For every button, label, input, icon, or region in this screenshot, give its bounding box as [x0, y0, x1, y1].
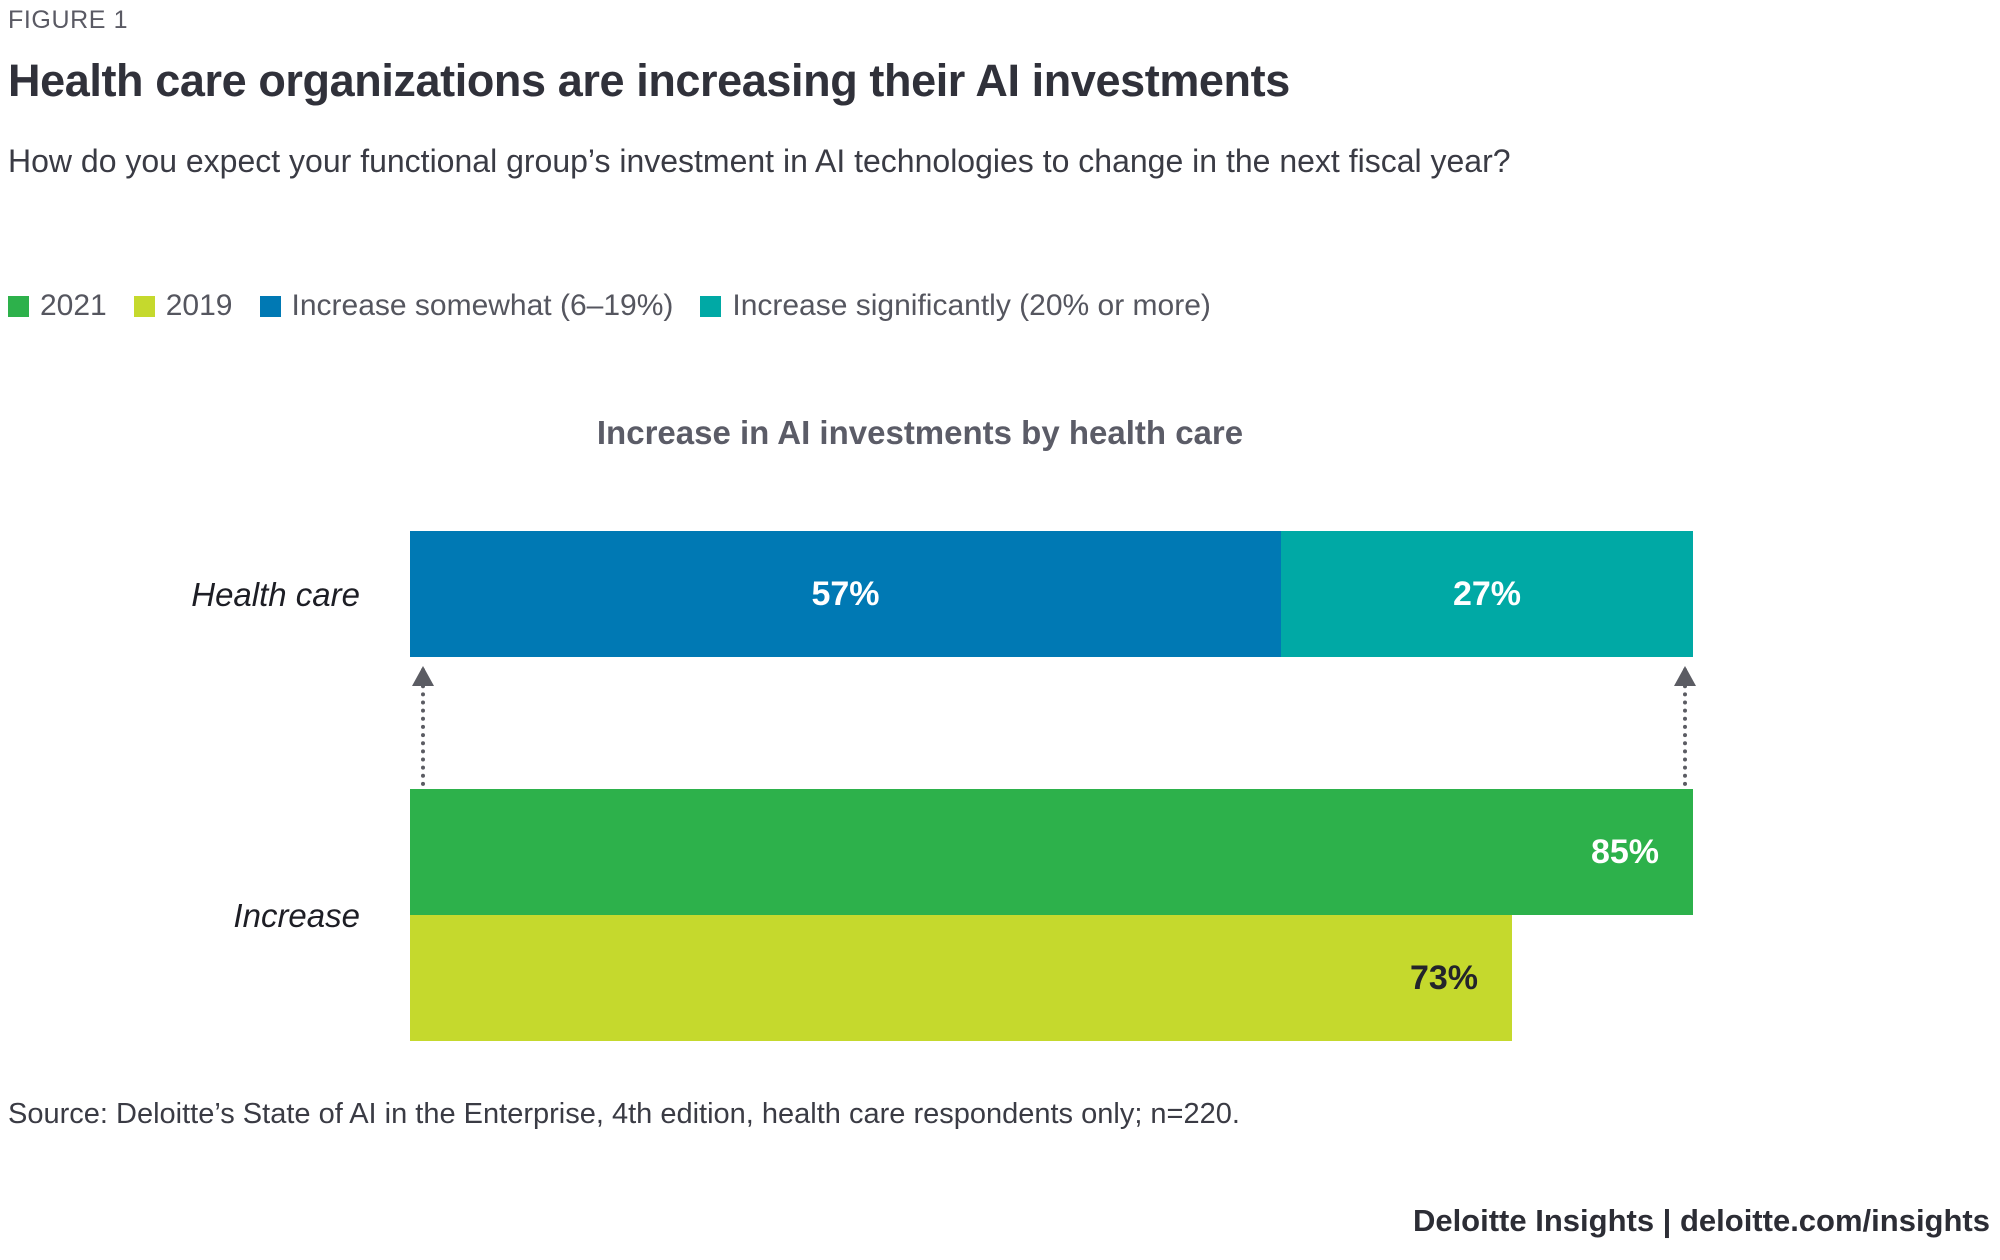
- bar-increase-2019[interactable]: 73%: [410, 915, 1512, 1041]
- source-note: Source: Deloitte’s State of AI in the En…: [8, 1098, 1240, 1131]
- bar-health-care-increase-somewhat[interactable]: 57%: [410, 531, 1281, 657]
- brand-footer: Deloitte Insights | deloitte.com/insight…: [1413, 1203, 1990, 1239]
- axis-label-increase: Increase: [60, 897, 360, 935]
- bar-increase-2021[interactable]: 85%: [410, 789, 1693, 915]
- figure-container: FIGURE 1 Health care organizations are i…: [0, 0, 2000, 1260]
- axis-label-health-care: Health care: [60, 576, 360, 614]
- arrow-up-icon: [412, 666, 434, 686]
- bar-value-73: 73%: [1410, 915, 1478, 1041]
- bar-value-85: 85%: [1591, 789, 1659, 915]
- bar-value-27: 27%: [1281, 531, 1693, 657]
- chart-plot-area: Health care 57% 27% Increase 85% 73%: [0, 0, 2000, 1260]
- bar-health-care-increase-significantly[interactable]: 27%: [1281, 531, 1693, 657]
- bar-value-57: 57%: [410, 531, 1281, 657]
- arrow-up-icon: [1674, 666, 1696, 686]
